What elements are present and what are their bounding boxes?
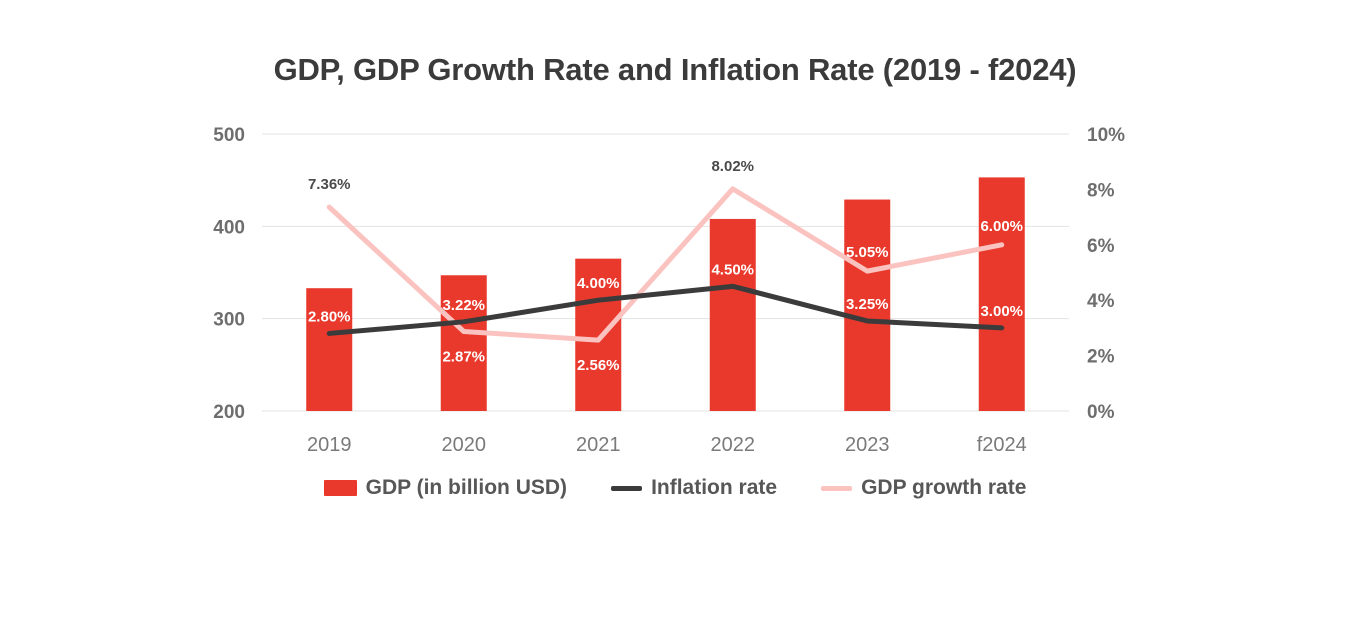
gridlines xyxy=(262,134,1069,411)
axis-left-ticks: 200300400500 xyxy=(213,125,245,423)
legend-swatch-line-icon xyxy=(821,486,852,491)
axis-right-ticks: 0%2%4%6%8%10% xyxy=(1087,125,1125,423)
axis-right-tick-0%: 0% xyxy=(1087,402,1115,423)
label-inflation-2019: 2.80% xyxy=(308,308,351,325)
chart-container: GDP, GDP Growth Rate and Inflation Rate … xyxy=(0,0,1350,627)
line-series-inflation-rate xyxy=(329,286,1002,333)
axis-left-tick-300: 300 xyxy=(213,310,245,331)
legend-item-gdp-growth-rate[interactable]: GDP growth rate xyxy=(821,476,1026,500)
legend-item-gdp-in-billion-usd[interactable]: GDP (in billion USD) xyxy=(324,476,567,500)
label-inflation-2023: 3.25% xyxy=(846,296,889,313)
label-inflation-2021: 4.00% xyxy=(577,275,620,292)
bar-2019 xyxy=(306,288,352,411)
label-inflation-2020: 3.22% xyxy=(442,297,485,314)
axis-x-tick-2019: 2019 xyxy=(307,434,352,456)
label-inflation-2022: 4.50% xyxy=(711,261,754,278)
label-growth-2022: 8.02% xyxy=(711,158,754,175)
axis-x-tick-2021: 2021 xyxy=(576,434,621,456)
axis-x-tick-2023: 2023 xyxy=(845,434,890,456)
legend-swatch-square-icon xyxy=(324,480,357,496)
axis-left-tick-500: 500 xyxy=(213,125,245,146)
bar-2020 xyxy=(441,275,487,411)
label-growth-2020: 2.87% xyxy=(442,349,485,366)
axis-x-tick-2020: 2020 xyxy=(442,434,487,456)
axis-left-tick-400: 400 xyxy=(213,217,245,238)
chart-plot-area: 2.80%3.22%4.00%4.50%3.25%3.00%7.36%2.87%… xyxy=(0,0,1350,627)
gdp-growth-rate-line xyxy=(329,189,1002,340)
legend-item-label: GDP growth rate xyxy=(861,476,1026,500)
axis-right-tick-8%: 8% xyxy=(1087,180,1115,201)
axis-right-tick-6%: 6% xyxy=(1087,236,1115,257)
label-inflation-f2024: 3.00% xyxy=(980,303,1023,320)
label-growth-2019: 7.36% xyxy=(308,176,351,193)
axis-x-ticks: 20192020202120222023f2024 xyxy=(307,434,1027,456)
label-growth-2023: 5.05% xyxy=(846,244,889,261)
axis-right-tick-4%: 4% xyxy=(1087,291,1115,312)
axis-right-tick-2%: 2% xyxy=(1087,347,1115,368)
chart-legend: GDP (in billion USD)Inflation rateGDP gr… xyxy=(0,476,1350,500)
label-growth-2021: 2.56% xyxy=(577,357,620,374)
axis-x-tick-f2024: f2024 xyxy=(977,434,1027,456)
legend-item-label: GDP (in billion USD) xyxy=(366,476,567,500)
axis-right-tick-10%: 10% xyxy=(1087,125,1125,146)
legend-item-inflation-rate[interactable]: Inflation rate xyxy=(611,476,777,500)
axis-x-tick-2022: 2022 xyxy=(711,434,756,456)
bar-2022 xyxy=(710,219,756,411)
legend-swatch-line-icon xyxy=(611,486,642,491)
line-series-gdp-growth-rate xyxy=(329,189,1002,340)
inflation-rate-line xyxy=(329,286,1002,333)
bar-f2024 xyxy=(979,177,1025,411)
legend-item-label: Inflation rate xyxy=(651,476,777,500)
axis-left-tick-200: 200 xyxy=(213,402,245,423)
label-growth-f2024: 6.00% xyxy=(980,218,1023,235)
